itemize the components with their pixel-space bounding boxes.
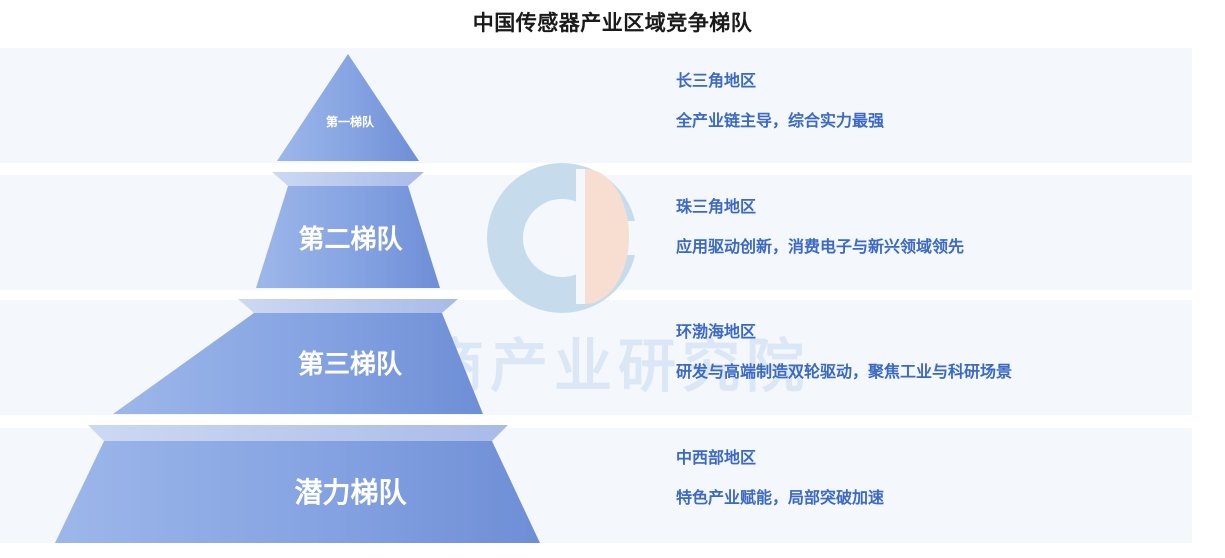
pyramid-chart-canvas: 中商产业研究院 中国传感器产业区域竞争梯队 第一梯队 第二梯队 (0, 0, 1225, 558)
page-title: 中国传感器产业区域竞争梯队 (0, 7, 1225, 37)
pyramid-tier-4-cap (88, 425, 508, 441)
tier-description-2: 珠三角地区 应用驱动创新，消费电子与新兴领域领先 (676, 197, 964, 259)
pyramid-tier-2-cap (272, 172, 424, 186)
tier-label-1: 第一梯队 (285, 113, 415, 130)
tier-detail-4: 特色产业赋能，局部突破加速 (676, 488, 884, 510)
tier-description-3: 环渤海地区 研发与高端制造双轮驱动，聚焦工业与科研场景 (676, 322, 1012, 384)
tier-description-4: 中西部地区 特色产业赋能，局部突破加速 (676, 448, 884, 510)
tier-region-3: 环渤海地区 (676, 322, 1012, 344)
tier-label-2: 第二梯队 (218, 219, 483, 256)
tier-detail-2: 应用驱动创新，消费电子与新兴领域领先 (676, 237, 964, 259)
tier-detail-1: 全产业链主导，综合实力最强 (676, 111, 884, 133)
tier-detail-3: 研发与高端制造双轮驱动，聚焦工业与科研场景 (676, 362, 1012, 384)
tier-region-1: 长三角地区 (676, 71, 884, 93)
tier-region-2: 珠三角地区 (676, 197, 964, 219)
pyramid-tier-1[interactable] (277, 54, 419, 161)
tier-label-3: 第三梯队 (170, 344, 530, 381)
tier-label-4: 潜力梯队 (128, 471, 573, 511)
tier-description-1: 长三角地区 全产业链主导，综合实力最强 (676, 71, 884, 133)
pyramid-tier-3-cap (238, 299, 458, 313)
tier-region-4: 中西部地区 (676, 448, 884, 470)
